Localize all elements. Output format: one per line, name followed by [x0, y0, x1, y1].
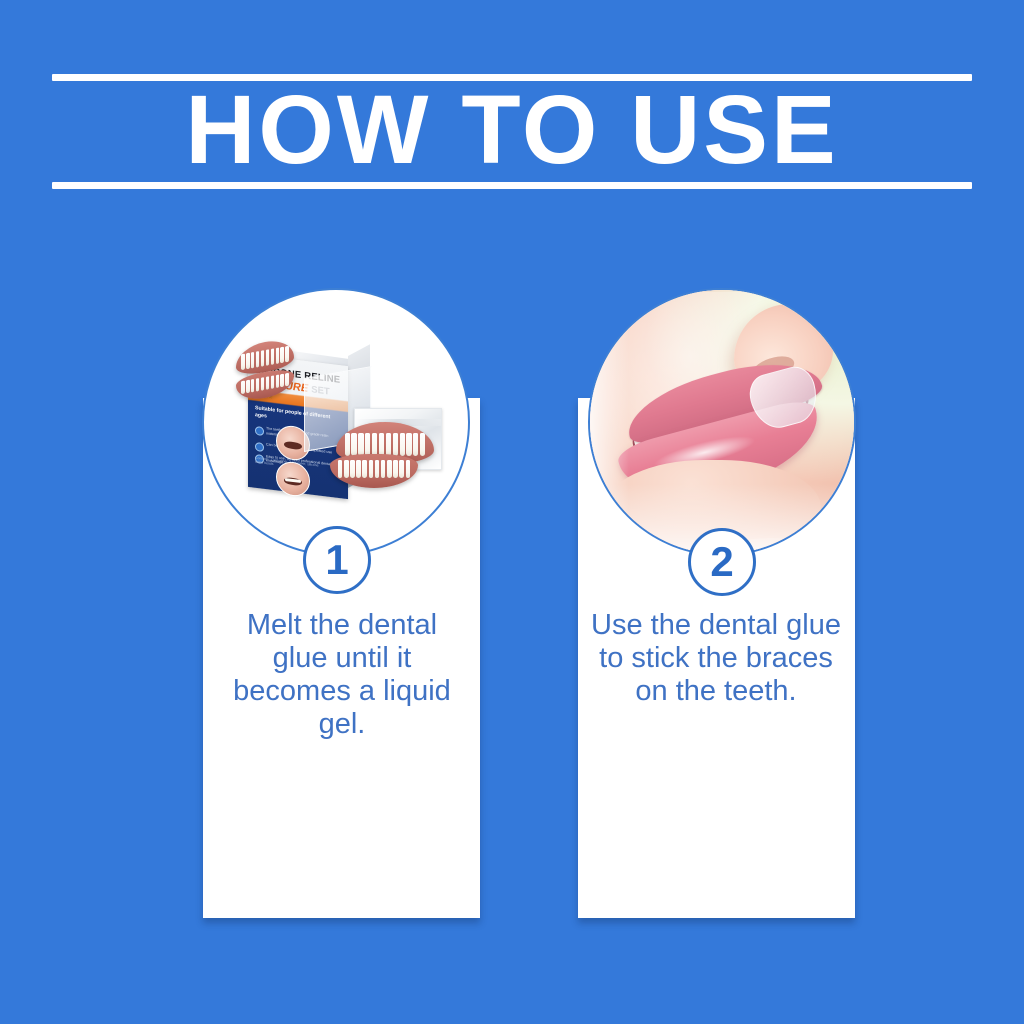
step-2-image-circle [588, 288, 856, 556]
step-1-number: 1 [325, 536, 348, 584]
step-2-caption: Use the dental glue to stick the braces … [590, 609, 842, 708]
poster-stage: HOW TO USE SILICONE RELINE DENTURE SET S… [0, 0, 1024, 1024]
step-2-number: 2 [710, 538, 733, 586]
smiling-mouth-photo [588, 288, 856, 556]
step-1-caption: Melt the dental glue until it becomes a … [216, 609, 468, 741]
title-rule-bottom [52, 182, 972, 189]
lower-denture-veneer [330, 454, 418, 488]
step-1-image-circle: SILICONE RELINE DENTURE SET Silicone Sui… [202, 288, 470, 556]
page-title: HOW TO USE [0, 80, 1024, 180]
denture-kit-product-photo: SILICONE RELINE DENTURE SET Silicone Sui… [236, 342, 441, 502]
step-2-circle-frame [588, 288, 856, 556]
step-2-number-badge: 2 [688, 528, 756, 596]
step-1-circle-frame: SILICONE RELINE DENTURE SET Silicone Sui… [202, 288, 470, 556]
step-1-number-badge: 1 [303, 526, 371, 594]
